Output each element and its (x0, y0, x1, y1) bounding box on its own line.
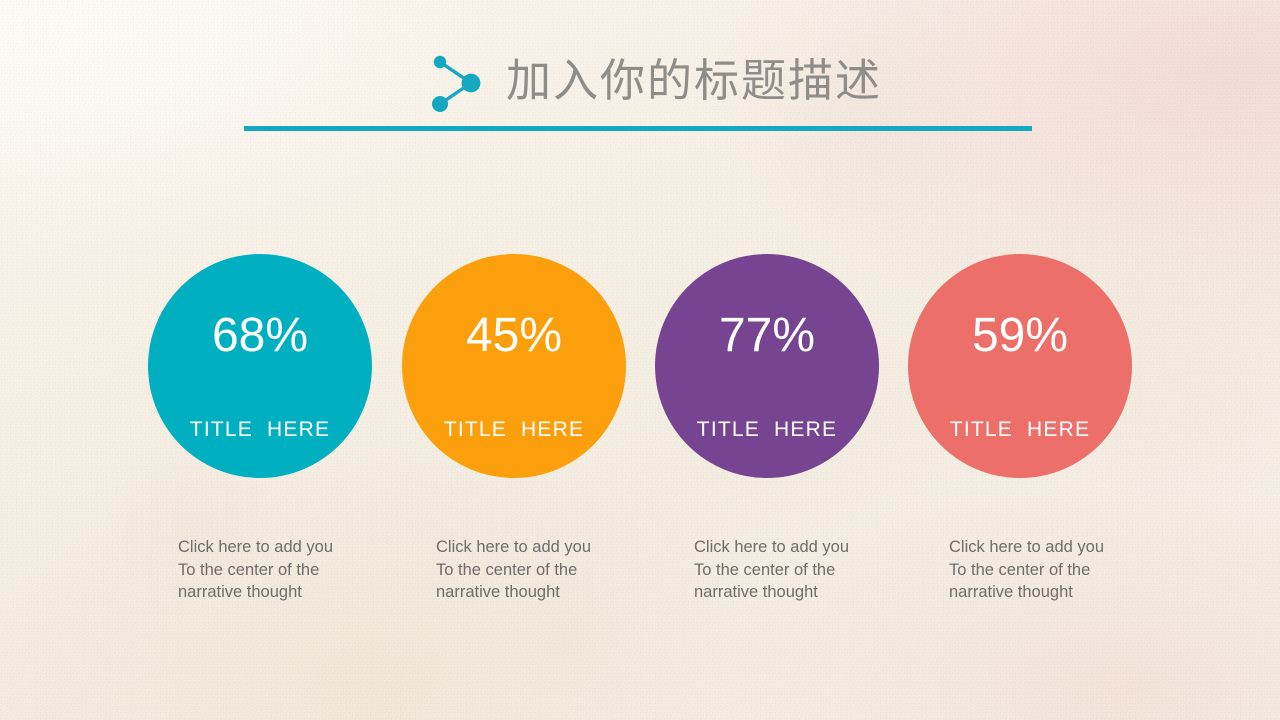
stat-title-4: TITLE HERE (908, 419, 1132, 440)
stat-circle-1[interactable]: 68% TITLE HERE (148, 254, 372, 478)
stat-caption-4[interactable]: Click here to add you To the center of t… (949, 536, 1199, 604)
stat-title-2: TITLE HERE (402, 419, 626, 440)
stat-circle-3[interactable]: 77% TITLE HERE (655, 254, 879, 478)
stat-circle-2[interactable]: 45% TITLE HERE (402, 254, 626, 478)
title-underline-rule (244, 126, 1032, 131)
stat-caption-1[interactable]: Click here to add you To the center of t… (178, 536, 428, 604)
stat-circles-row: 68% TITLE HERE 45% TITLE HERE 77% TITLE … (0, 254, 1280, 480)
stat-title-3: TITLE HERE (655, 419, 879, 440)
page-title: 加入你的标题描述 (506, 54, 882, 108)
stat-percent-4: 59% (908, 312, 1132, 360)
stat-title-1: TITLE HERE (148, 419, 372, 440)
presentation-slide: 加入你的标题描述 68% TITLE HERE 45% TITLE HERE 7… (0, 0, 1280, 720)
stat-circle-4[interactable]: 59% TITLE HERE (908, 254, 1132, 478)
stat-captions-row: Click here to add you To the center of t… (0, 536, 1280, 616)
stat-percent-3: 77% (655, 312, 879, 360)
stat-caption-3[interactable]: Click here to add you To the center of t… (694, 536, 944, 604)
network-node-icon (426, 52, 486, 114)
stat-percent-2: 45% (402, 312, 626, 360)
stat-caption-2[interactable]: Click here to add you To the center of t… (436, 536, 686, 604)
stat-percent-1: 68% (148, 312, 372, 360)
